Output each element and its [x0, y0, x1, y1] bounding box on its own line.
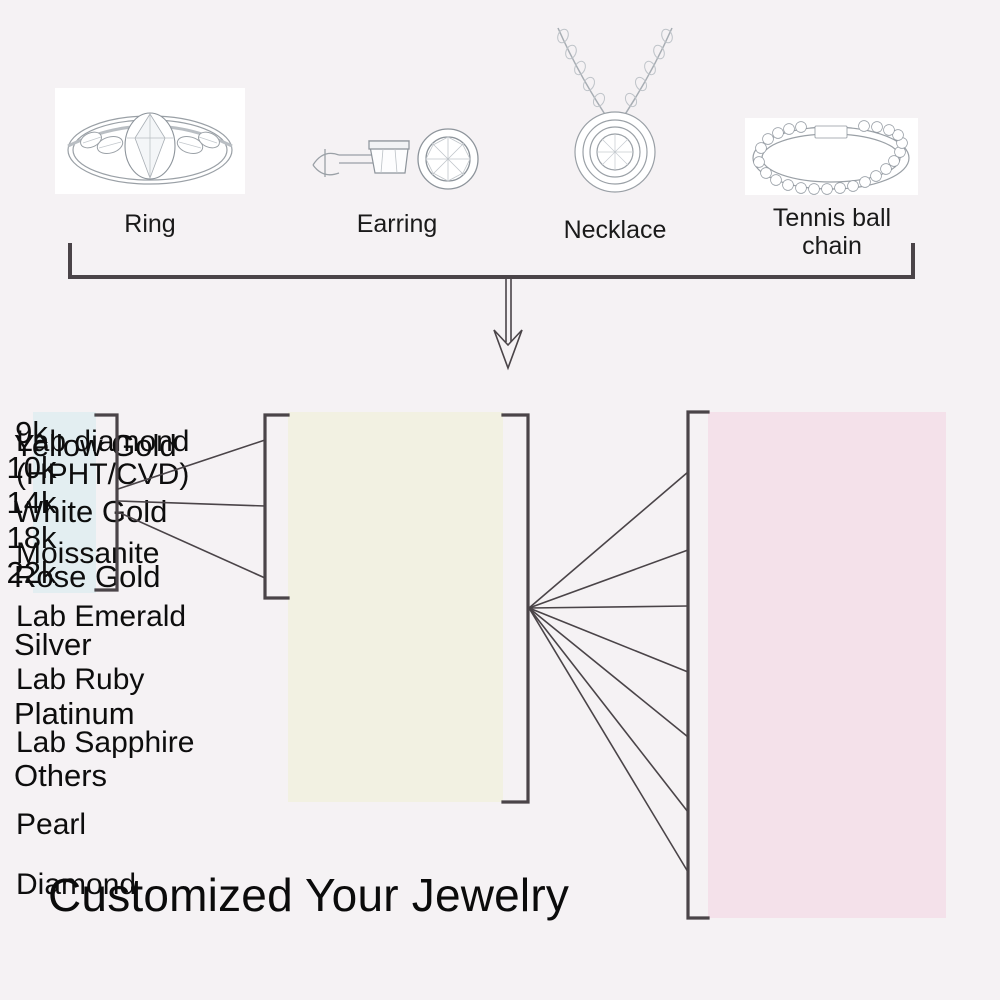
earring-icon: [305, 125, 490, 195]
gemstone-item[interactable]: Lab Emerald: [16, 600, 186, 633]
product-label-tennis-ball-chain: Tennis ball chain: [742, 204, 922, 260]
ring-photo: [55, 88, 245, 194]
tennis-bracelet-photo: [745, 118, 918, 195]
gemstone-item[interactable]: Lab Sapphire: [16, 726, 194, 759]
gemstone-item[interactable]: Pearl: [16, 808, 86, 841]
product-label-ring: Ring: [55, 210, 245, 238]
metal-to-gemstone-lines: [529, 472, 688, 872]
metal-item[interactable]: Others: [14, 758, 107, 794]
diagram-canvas: Ring: [0, 0, 1000, 1000]
necklace-photo: [540, 20, 690, 198]
down-arrow-icon: [494, 277, 522, 368]
page-title: Customized Your Jewelry: [48, 868, 569, 922]
product-label-necklace: Necklace: [525, 216, 705, 244]
metal-list: [288, 412, 503, 802]
product-label-earring: Earring: [302, 210, 492, 238]
gemstone-bracket: [688, 412, 708, 918]
metal-item[interactable]: White Gold: [14, 494, 167, 530]
gemstone-item[interactable]: Moissanite: [16, 537, 159, 570]
ring-icon: [55, 88, 245, 194]
metal-bracket-left: [265, 415, 288, 598]
necklace-icon: [540, 20, 690, 198]
earring-photo: [305, 125, 490, 195]
tennis-bracelet-icon: [745, 118, 918, 195]
gemstone-item[interactable]: Lab Ruby: [16, 663, 144, 696]
metal-bracket-right: [503, 415, 528, 802]
gemstone-list: [708, 412, 946, 918]
gemstone-item[interactable]: Lab diamond (HPHT/CVD): [16, 425, 189, 491]
